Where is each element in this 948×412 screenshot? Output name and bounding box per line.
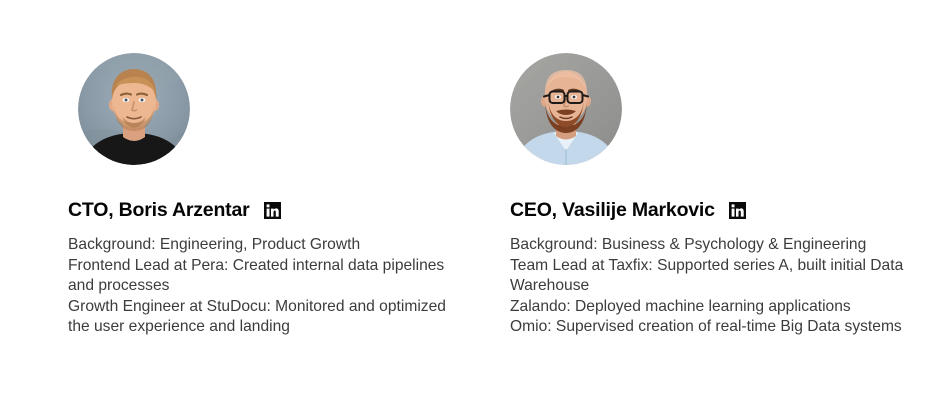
profile-card-ceo: CEO, Vasilije Markovic Background: Busin… xyxy=(510,53,910,337)
linkedin-icon[interactable] xyxy=(729,202,746,219)
profile-name-row: CEO, Vasilije Markovic xyxy=(510,200,910,221)
avatar xyxy=(510,53,622,165)
team-profiles-section: CTO, Boris Arzentar Background: Engineer… xyxy=(0,0,948,412)
avatar-image-vasilije xyxy=(510,53,622,165)
avatar xyxy=(78,53,190,165)
profile-bio: Background: Business & Psychology & Engi… xyxy=(510,235,910,337)
profile-bio: Background: Engineering, Product Growth … xyxy=(68,235,468,337)
profile-card-cto: CTO, Boris Arzentar Background: Engineer… xyxy=(68,53,468,337)
profile-name: CTO, Boris Arzentar xyxy=(68,200,250,221)
profile-name: CEO, Vasilije Markovic xyxy=(510,200,715,221)
avatar-image-boris xyxy=(78,53,190,165)
profile-name-row: CTO, Boris Arzentar xyxy=(68,200,468,221)
linkedin-icon[interactable] xyxy=(264,202,281,219)
